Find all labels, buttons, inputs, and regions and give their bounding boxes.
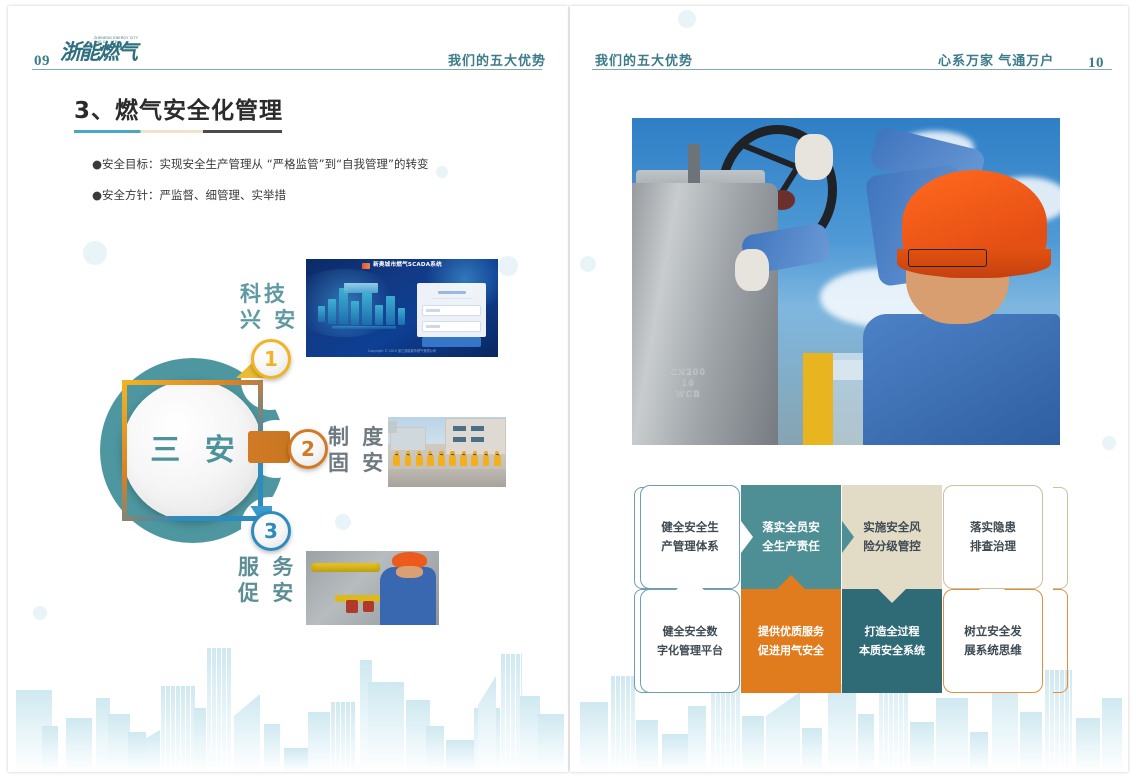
flow-cell-7[interactable]: 树立安全发 展系统思维	[943, 589, 1043, 693]
header-rule	[592, 69, 1112, 70]
right-page-number: 10	[1088, 56, 1104, 71]
company-logo: ZHENENG ENERGY CITY GAS CO. LTD 浙能燃气	[60, 39, 138, 67]
flow-cell-1-text: 落实全员安 全生产责任	[762, 518, 820, 556]
safety-glasses-icon	[908, 249, 987, 267]
skyline-decoration	[8, 637, 568, 772]
notch-cream-down	[878, 589, 906, 603]
connector-2	[248, 431, 290, 463]
valve-body	[632, 183, 778, 445]
flow-cell-4[interactable]: 健全安全数 字化管理平台	[640, 589, 740, 693]
diagram-label-3: 服 务 促 安	[238, 554, 296, 606]
diagram-label-2: 制 度 固 安	[328, 424, 386, 476]
flow-cell-1[interactable]: 落实全员安 全生产责任	[741, 485, 841, 589]
flow-cell-3[interactable]: 落实隐患 排查治理	[943, 485, 1043, 589]
diagram-node-2[interactable]: 2	[288, 429, 328, 469]
photo-pipe-inspection	[306, 551, 439, 625]
header-slogan: 心系万家 气通万户	[938, 54, 1054, 67]
flow-cell-4-text: 健全安全数 字化管理平台	[657, 622, 723, 660]
slide-page: 09 ZHENENG ENERGY CITY GAS CO. LTD 浙能燃气 …	[0, 0, 1136, 779]
flow-cell-5[interactable]: 提供优质服务 促进用气安全	[741, 589, 841, 693]
scada-copyright: Copyright © 2019 浙江浙能城市燃气有限公司	[368, 350, 436, 353]
photo-valve-operation: CN200 16 WCB	[632, 118, 1060, 445]
title-underline	[74, 130, 282, 133]
worker-torso	[863, 314, 1060, 445]
notch-white-up-left	[676, 577, 704, 590]
login-divider	[431, 298, 472, 299]
decor-circle	[335, 514, 351, 530]
center-label: 三 安	[143, 436, 241, 466]
login-button[interactable]	[422, 337, 481, 347]
notch-white-left	[741, 521, 753, 553]
flow-cell-3-text: 落实隐患 排查治理	[970, 518, 1016, 556]
scada-illustration	[314, 281, 414, 342]
decor-circle	[83, 241, 107, 265]
username-field[interactable]	[422, 305, 481, 316]
login-heading	[438, 291, 465, 294]
header-rule	[32, 69, 542, 70]
header-center-right-text: 我们的五大优势	[595, 54, 693, 67]
flow-cell-6[interactable]: 打造全过程 本质安全系统	[842, 589, 942, 693]
decor-circle	[33, 606, 47, 620]
left-page-sheet: 09 ZHENENG ENERGY CITY GAS CO. LTD 浙能燃气 …	[8, 6, 568, 772]
flow-cell-2[interactable]: 实施安全风 险分级管控	[842, 485, 942, 589]
scada-title-bar: 新奥城市燃气SCADA系统	[306, 259, 498, 273]
flow-cell-6-text: 打造全过程 本质安全系统	[859, 622, 925, 660]
node-3-number: 3	[264, 521, 278, 541]
flow-cell-2-text: 实施安全风 险分级管控	[863, 518, 921, 556]
password-field[interactable]	[422, 321, 481, 332]
notch-orange-up	[777, 575, 805, 589]
node-1-number: 1	[264, 349, 278, 369]
safety-framework-flowchart: 健全安全生 产管理体系 落实全员安 全生产责任 实施安全风 险分级管控 落实隐患…	[640, 485, 1060, 693]
scada-logo-icon	[362, 263, 370, 269]
photo-scooter-fleet	[388, 417, 506, 487]
flow-cell-0[interactable]: 健全安全生 产管理体系	[640, 485, 740, 589]
scooter-row	[393, 451, 502, 469]
glove-lower	[735, 249, 769, 292]
decor-circle	[580, 256, 596, 272]
brace-right-bottom	[1053, 589, 1068, 693]
scada-login-panel[interactable]	[417, 283, 486, 338]
page-title: 3、燃气安全化管理	[74, 98, 283, 126]
scada-title: 新奥城市燃气SCADA系统	[373, 263, 442, 269]
glove-upper	[795, 134, 834, 180]
notch-white-down-right	[979, 589, 1005, 602]
diagram-node-1[interactable]: 1	[251, 339, 291, 379]
decor-circle	[498, 256, 518, 276]
flow-cell-7-text: 树立安全发 展系统思维	[964, 622, 1022, 660]
bullet-1: ●安全方针：严监督、细管理、实举措	[92, 187, 286, 203]
decor-circle	[436, 166, 448, 178]
notch-teal-right	[842, 521, 854, 553]
valve-marking: CN200 16 WCB	[671, 366, 706, 399]
scada-footer: Copyright © 2019 浙江浙能城市燃气有限公司	[306, 348, 498, 355]
decor-circle	[678, 10, 696, 28]
center-disc: 三 安	[129, 387, 256, 514]
decor-circle	[1102, 436, 1116, 450]
flow-cell-0-text: 健全安全生 产管理体系	[661, 518, 719, 556]
diagram-label-1: 科技 兴 安	[240, 281, 298, 333]
photo-scada-system: 新奥城市燃气SCADA系统 C	[306, 259, 498, 357]
header-center-left-text: 我们的五大优势	[448, 54, 546, 67]
brace-right-top	[1053, 487, 1068, 589]
left-page-number: 09	[34, 54, 50, 69]
node-2-number: 2	[301, 439, 315, 459]
diagram-node-3[interactable]: 3	[251, 511, 291, 551]
logo-chinese-text: 浙能燃气	[60, 41, 136, 62]
flow-cell-5-text: 提供优质服务 促进用气安全	[758, 622, 824, 660]
bullet-0: ●安全目标：实现安全生产管理从 “严格监管”到“自我管理”的转变	[92, 156, 429, 172]
